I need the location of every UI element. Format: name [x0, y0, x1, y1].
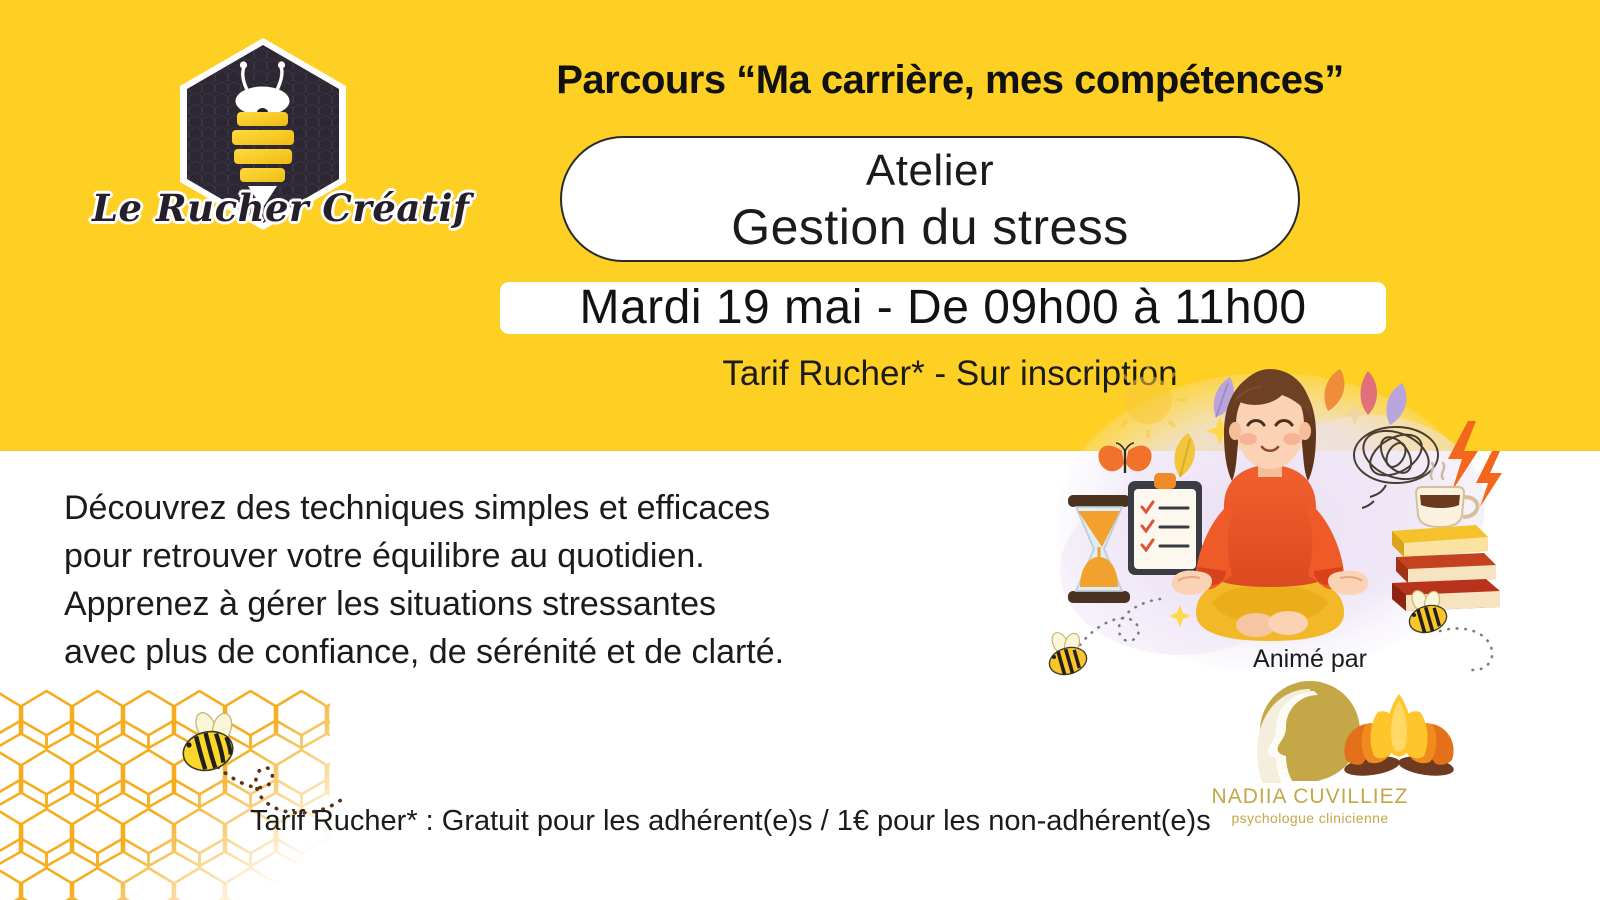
body-line-2: pour retrouver votre équilibre au quotid…: [64, 532, 944, 580]
workshop-kind: Atelier: [866, 143, 994, 199]
poster-canvas: Le Rucher Créatif Parcours “Ma carrière,…: [0, 0, 1600, 900]
credit-intro: Animé par: [1155, 645, 1465, 674]
clipboard-checklist-icon: [1128, 473, 1202, 575]
bee-icon-left: [1046, 630, 1090, 679]
brand-logo: Le Rucher Créatif: [98, 18, 418, 268]
body-line-4: avec plus de confiance, de sérénité et d…: [64, 628, 944, 676]
flying-bee-with-dotted-trail: [160, 705, 360, 820]
workshop-pill: Atelier Gestion du stress: [560, 136, 1300, 262]
lotus-flower-icon: [1338, 690, 1460, 782]
workshop-topic: Gestion du stress: [731, 199, 1129, 255]
body-line-1: Découvrez des techniques simples et effi…: [64, 484, 944, 532]
body-line-3: Apprenez à gérer les situations stressan…: [64, 580, 944, 628]
brand-logo-text: Le Rucher Créatif: [92, 186, 422, 230]
meditating-woman-illustration: [1020, 355, 1520, 695]
program-title: Parcours “Ma carrière, mes compétences”: [430, 58, 1470, 103]
footer-note: Tarif Rucher* : Gratuit pour les adhéren…: [250, 805, 1210, 838]
date-banner: Mardi 19 mai - De 09h00 à 11h00: [500, 282, 1386, 334]
body-copy: Découvrez des techniques simples et effi…: [64, 484, 944, 676]
date-text: Mardi 19 mai - De 09h00 à 11h00: [579, 282, 1306, 334]
